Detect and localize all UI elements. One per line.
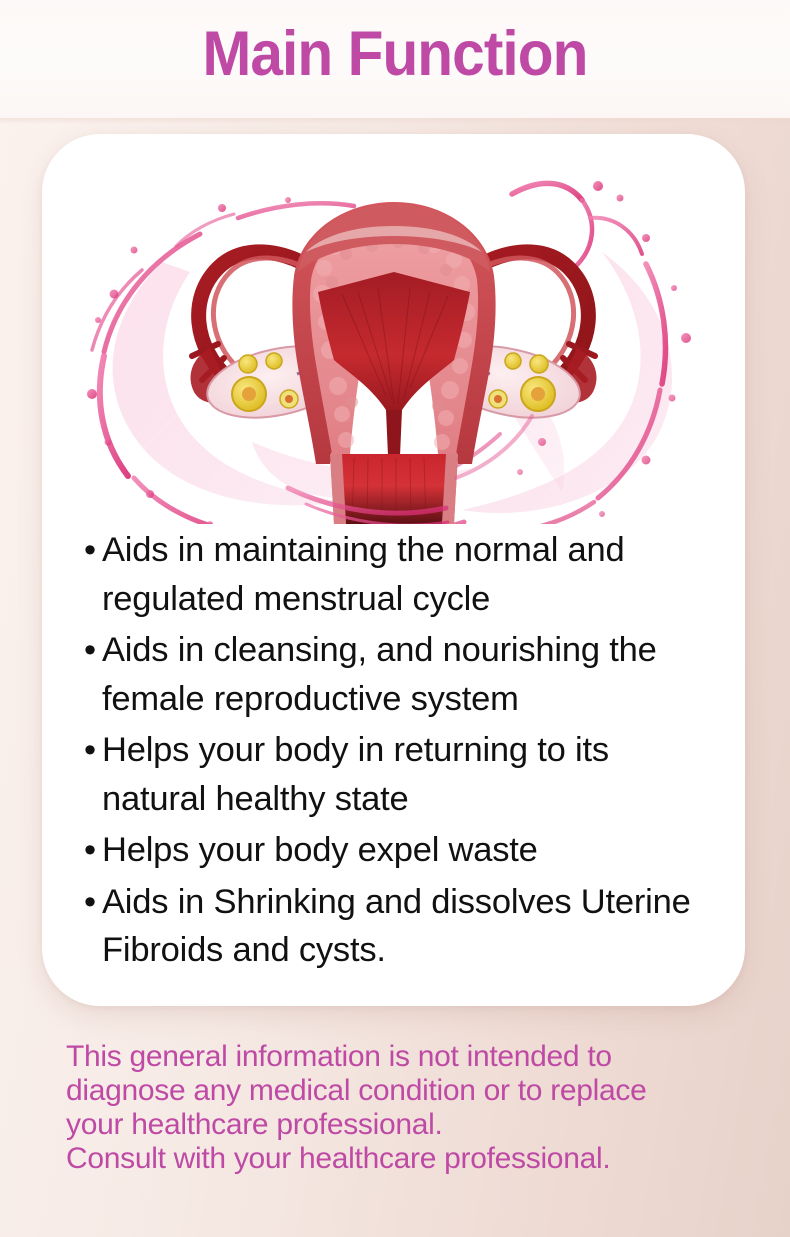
list-item: • Aids in cleansing, and nourishing the … (80, 626, 720, 723)
infographic-page: Main Function (0, 0, 790, 1237)
disclaimer-line: your healthcare professional. (66, 1108, 766, 1142)
uterus-body (292, 202, 495, 464)
bullet-marker: • (84, 626, 96, 675)
bullet-marker: • (84, 826, 96, 875)
list-item: • Helps your body in returning to its na… (80, 726, 720, 823)
bullet-marker: • (84, 878, 96, 927)
page-title: Main Function (28, 14, 763, 94)
list-item-label: Aids in cleansing, and nourishing the fe… (102, 626, 720, 723)
list-item-label: Aids in Shrinking and dissolves Uterine … (102, 878, 720, 975)
bullet-marker: • (84, 726, 96, 775)
disclaimer-line: This general information is not intended… (66, 1040, 766, 1074)
header-band: Main Function (0, 0, 790, 118)
benefits-list: • Aids in maintaining the normal and reg… (80, 526, 720, 978)
disclaimer-line: diagnose any medical condition or to rep… (66, 1074, 766, 1108)
list-item: • Helps your body expel waste (80, 826, 720, 875)
content-card: • Aids in maintaining the normal and reg… (42, 134, 745, 1006)
list-item: • Aids in maintaining the normal and reg… (80, 526, 720, 623)
list-item-label: Helps your body expel waste (102, 826, 720, 875)
disclaimer-line: Consult with your healthcare professiona… (66, 1142, 766, 1176)
list-item-label: Helps your body in returning to its natu… (102, 726, 720, 823)
disclaimer: This general information is not intended… (66, 1040, 766, 1176)
list-item-label: Aids in maintaining the normal and regul… (102, 526, 720, 623)
bullet-marker: • (84, 526, 96, 575)
list-item: • Aids in Shrinking and dissolves Uterin… (80, 878, 720, 975)
uterus-anatomy-illustration (42, 142, 745, 524)
